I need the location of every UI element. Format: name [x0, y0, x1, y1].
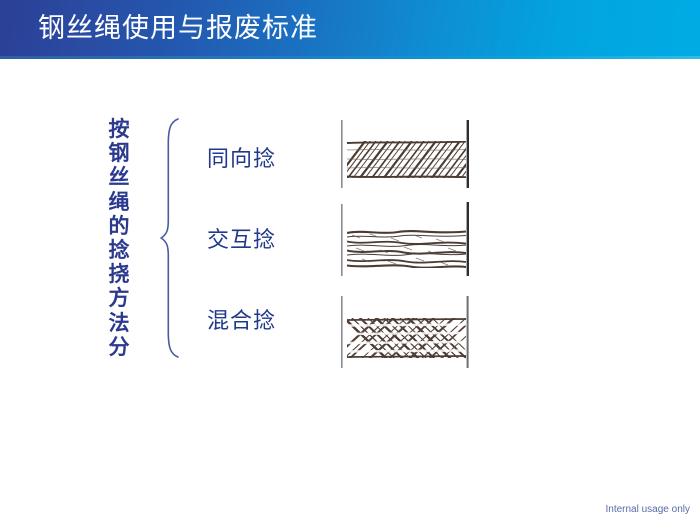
- rope-figure-0: [336, 112, 476, 194]
- caption-char-8: 法: [104, 312, 134, 336]
- category-label-2: 混合捻: [207, 308, 276, 334]
- caption-char-0: 按: [104, 118, 134, 142]
- rope-figure-2: [336, 292, 476, 374]
- caption-char-5: 捻: [104, 239, 134, 263]
- footer-confidentiality-note: Internal usage only: [605, 503, 690, 516]
- category-label-0: 同向捻: [207, 146, 276, 172]
- curly-brace-icon: [158, 116, 184, 360]
- rope-figure-1: [336, 202, 476, 284]
- classification-caption: 按 钢 丝 绳 的 捻 挠 方 法 分: [104, 118, 134, 360]
- caption-char-2: 丝: [104, 166, 134, 190]
- caption-char-7: 方: [104, 287, 134, 311]
- caption-char-6: 挠: [104, 263, 134, 287]
- slide-header-underline: [0, 56, 700, 59]
- category-label-1: 交互捻: [207, 227, 276, 253]
- slide-canvas: 钢丝绳使用与报废标准 按 钢 丝 绳 的 捻 挠 方 法 分 同向捻 交互捻 混…: [0, 0, 700, 525]
- slide-title: 钢丝绳使用与报废标准: [38, 11, 318, 45]
- caption-char-9: 分: [104, 336, 134, 360]
- caption-char-3: 绳: [104, 191, 134, 215]
- caption-char-1: 钢: [104, 142, 134, 166]
- caption-char-4: 的: [104, 215, 134, 239]
